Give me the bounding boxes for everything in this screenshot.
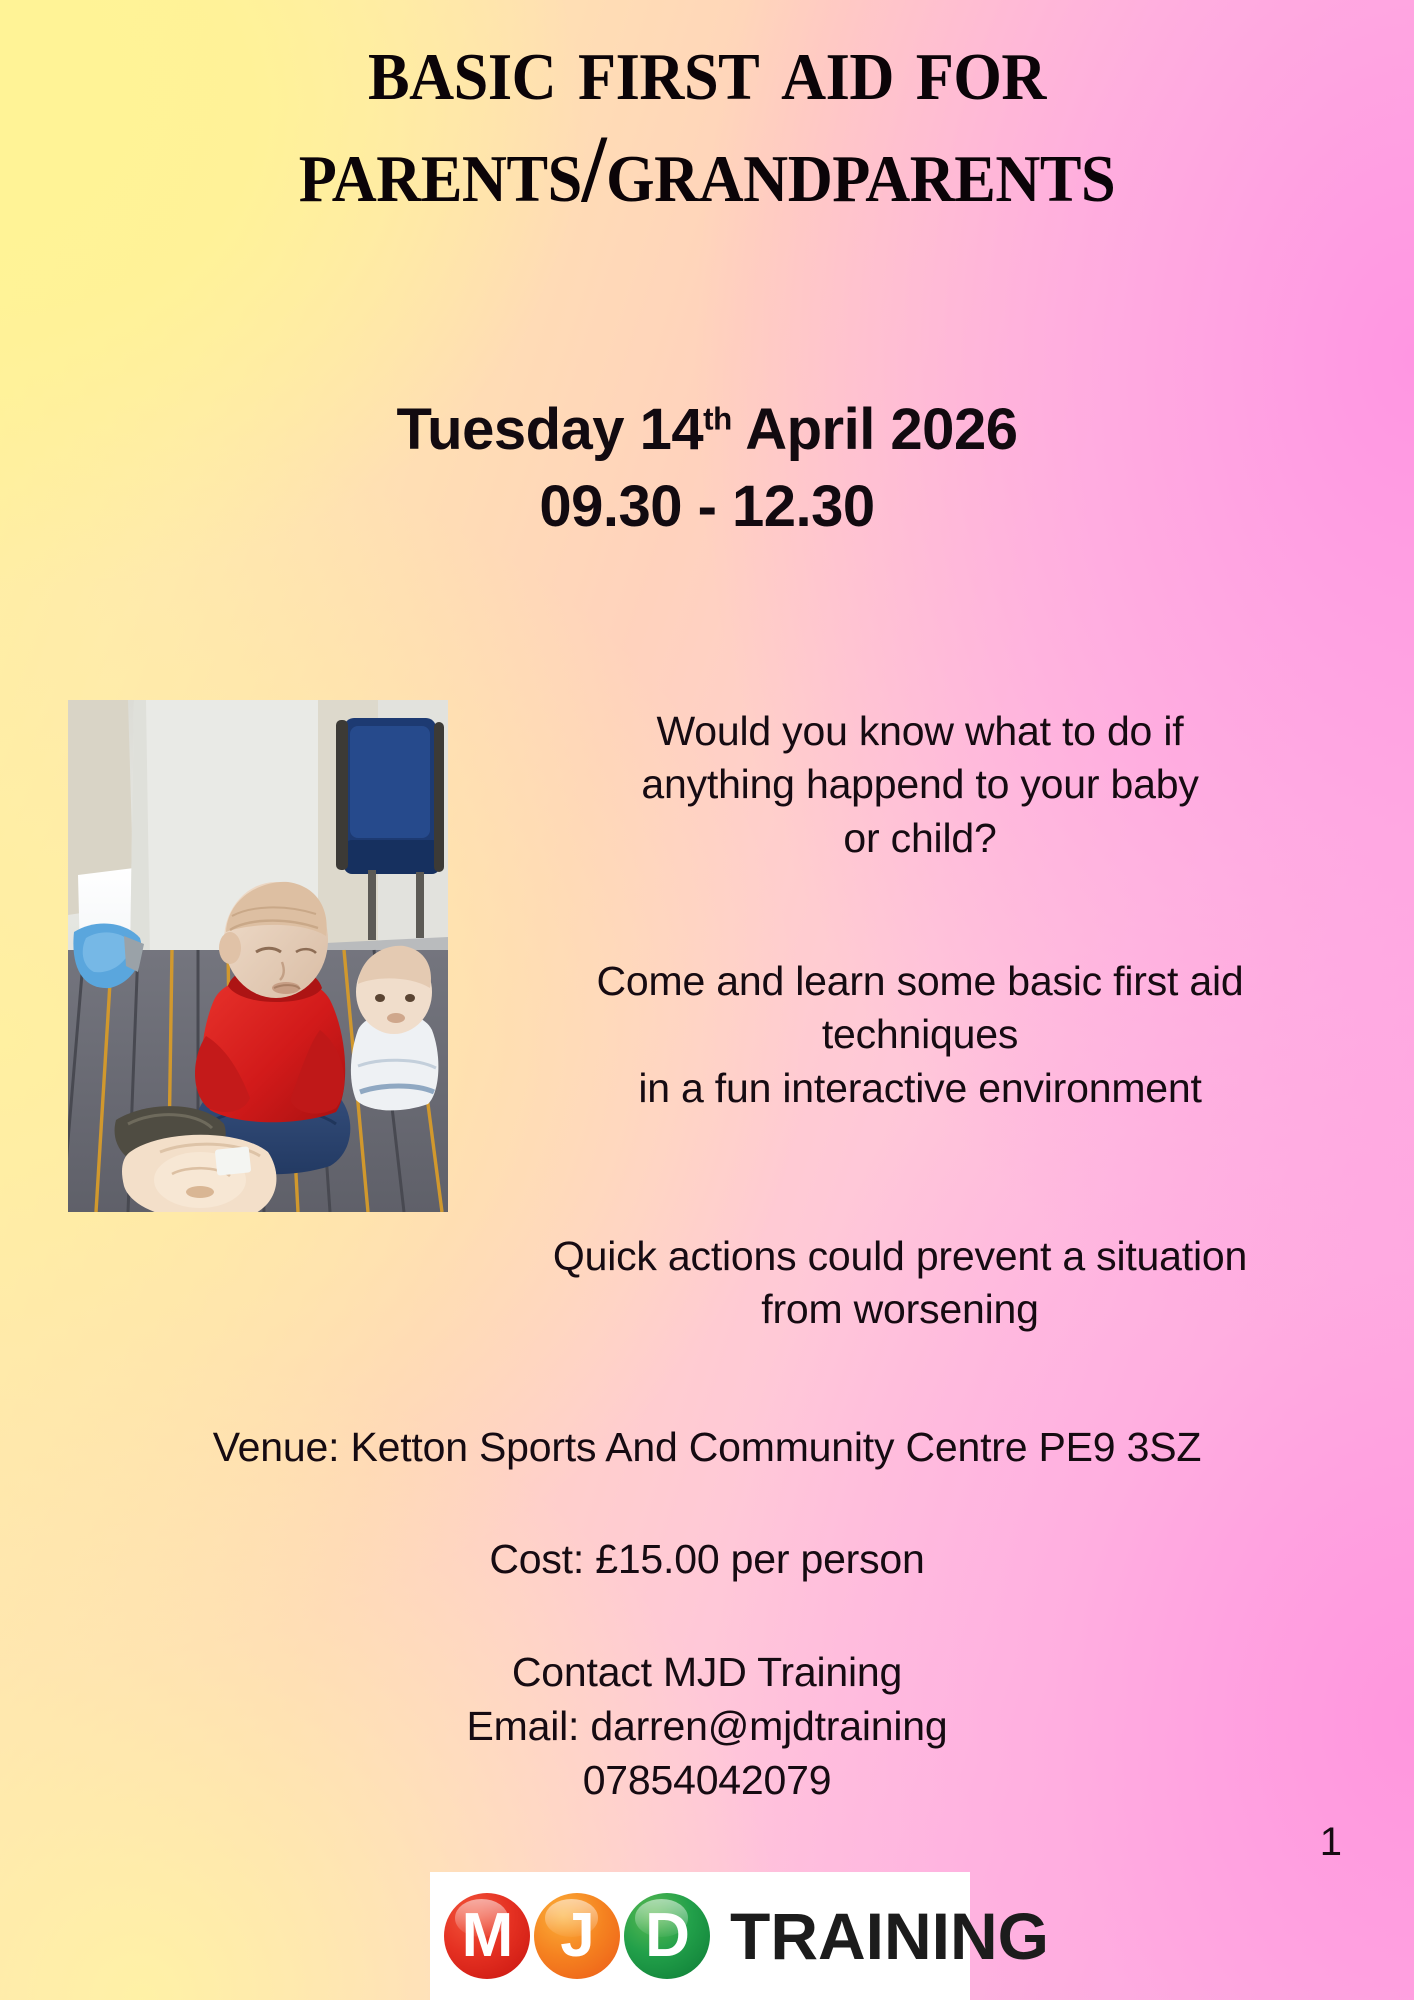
contact-phone[interactable]: 07854042079	[0, 1753, 1414, 1807]
quick-actions-paragraph: Quick actions could prevent a situation …	[400, 1230, 1400, 1337]
learn-line-2: techniques	[470, 1008, 1370, 1061]
learn-line-3: in a fun interactive environment	[470, 1062, 1370, 1115]
cost-line: Cost: £15.00 per person	[0, 1532, 1414, 1586]
logo-ball-d-icon: D	[624, 1893, 710, 1979]
poster-title: Basic First Aid For Parents/Grandparents	[0, 16, 1414, 220]
logo-letter-j: J	[560, 1905, 593, 1967]
training-photo-illustration	[68, 700, 448, 1212]
event-date: Tuesday 14th April 2026	[0, 392, 1414, 469]
contact-organisation: Contact MJD Training	[0, 1645, 1414, 1699]
event-datetime: Tuesday 14th April 2026 09.30 - 12.30	[0, 392, 1414, 545]
intro-line-2: anything happend to your baby	[470, 758, 1370, 811]
title-line-2: Parents/Grandparents	[49, 118, 1364, 220]
contact-email[interactable]: Email: darren@mjdtraining	[0, 1699, 1414, 1753]
logo-ball-j-icon: J	[534, 1893, 620, 1979]
quick-actions-line-1: Quick actions could prevent a situation	[400, 1230, 1400, 1283]
learn-line-1: Come and learn some basic first aid	[470, 955, 1370, 1008]
quick-actions-line-2: from worsening	[400, 1283, 1400, 1336]
date-prefix: Tuesday 14	[397, 397, 704, 462]
date-ordinal: th	[703, 402, 732, 437]
contact-block: Contact MJD Training Email: darren@mjdtr…	[0, 1645, 1414, 1807]
mjd-training-logo: M J D TRAINING	[430, 1872, 970, 2000]
intro-line-3: or child?	[470, 812, 1370, 865]
intro-line-1: Would you know what to do if	[470, 705, 1370, 758]
logo-ball-m-icon: M	[444, 1893, 530, 1979]
learn-paragraph: Come and learn some basic first aid tech…	[470, 955, 1370, 1115]
logo-wordmark: TRAINING	[730, 1898, 1049, 1974]
title-line-1: Basic First Aid For	[49, 16, 1364, 118]
logo-letter-m: M	[462, 1905, 513, 1967]
intro-paragraph: Would you know what to do if anything ha…	[470, 705, 1370, 865]
date-suffix: April 2026	[732, 397, 1018, 462]
event-time: 09.30 - 12.30	[0, 469, 1414, 546]
poster-canvas: Basic First Aid For Parents/Grandparents…	[0, 0, 1414, 2000]
training-photo	[68, 700, 448, 1212]
page-number: 1	[1320, 1820, 1342, 1865]
venue-line: Venue: Ketton Sports And Community Centr…	[0, 1420, 1414, 1474]
logo-letter-d: D	[645, 1905, 689, 1967]
